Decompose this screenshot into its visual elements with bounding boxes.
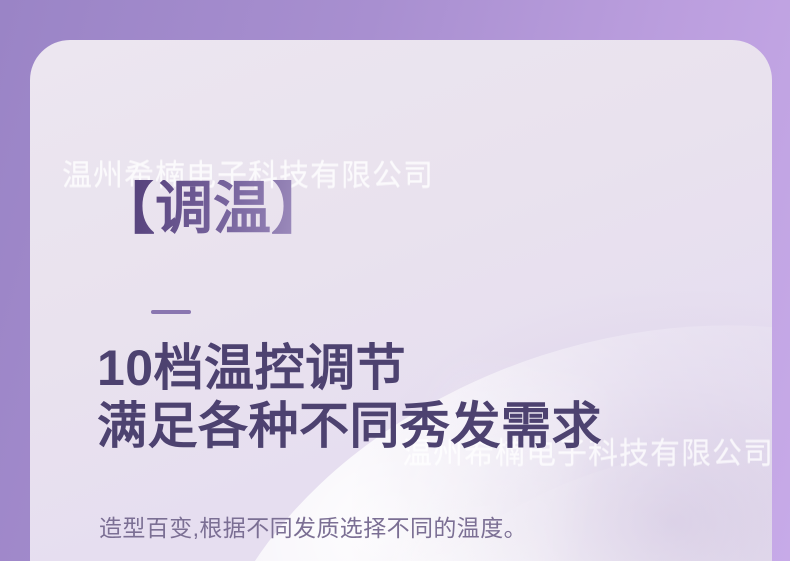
subtitle-text: 造型百变,根据不同发质选择不同的温度。 <box>99 512 527 544</box>
headline-line-2: 满足各种不同秀发需求 <box>97 398 602 454</box>
headline-line-1: 10档温控调节 <box>97 340 406 396</box>
content-panel: 温州希楠电子科技有限公司 温州希楠电子科技有限公司 【调温】 10档温控调节 满… <box>30 40 772 561</box>
divider-dash <box>151 310 191 314</box>
product-detail-banner: 温州希楠电子科技有限公司 温州希楠电子科技有限公司 【调温】 10档温控调节 满… <box>0 0 790 561</box>
section-title: 【调温】 <box>97 180 329 238</box>
text-content-group: 【调温】 10档温控调节 满足各种不同秀发需求 造型百变,根据不同发质选择不同的… <box>75 40 772 561</box>
